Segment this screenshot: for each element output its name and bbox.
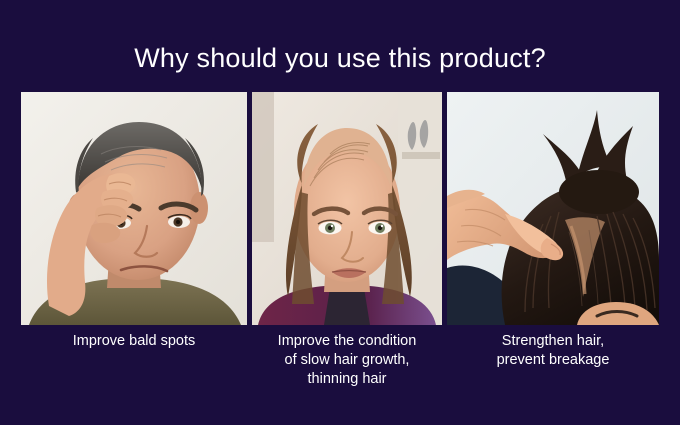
caption-bald-spots: Improve bald spots bbox=[21, 332, 247, 389]
photo-woman-thinning-hair bbox=[252, 92, 442, 325]
image-panel-strengthen-hair bbox=[447, 92, 659, 325]
image-panel-bald-spots bbox=[21, 92, 247, 325]
caption-line: prevent breakage bbox=[447, 351, 659, 370]
promo-slide: Why should you use this product? bbox=[0, 0, 680, 425]
photo-finger-pointing-scalp bbox=[447, 92, 659, 325]
page-title: Why should you use this product? bbox=[134, 45, 546, 72]
image-panel-slow-growth bbox=[252, 92, 442, 325]
caption-group: Improve bald spots Improve the condition… bbox=[21, 332, 659, 389]
caption-line: thinning hair bbox=[252, 370, 442, 389]
caption-line: Improve the condition bbox=[252, 332, 442, 351]
caption-line: Improve bald spots bbox=[21, 332, 247, 351]
caption-strengthen-hair: Strengthen hair, prevent breakage bbox=[447, 332, 659, 389]
caption-line: Strengthen hair, bbox=[447, 332, 659, 351]
image-panel-group bbox=[21, 92, 659, 325]
caption-line: of slow hair growth, bbox=[252, 351, 442, 370]
caption-slow-growth: Improve the condition of slow hair growt… bbox=[252, 332, 442, 389]
photo-man-receding-hairline bbox=[21, 92, 247, 325]
